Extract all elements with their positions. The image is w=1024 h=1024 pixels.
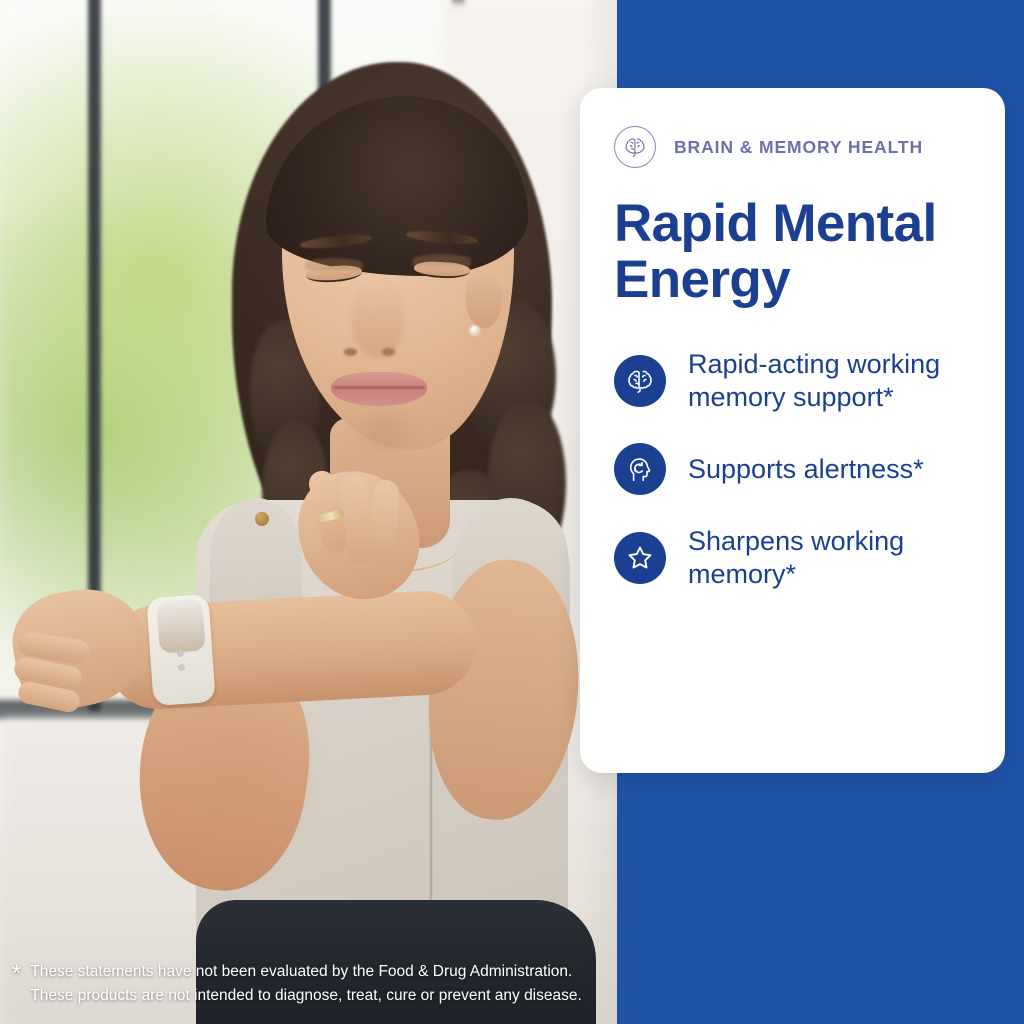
finger — [371, 480, 400, 567]
brain-outline-icon — [614, 126, 656, 168]
brain-icon — [614, 355, 666, 407]
benefits-list: Rapid-acting working memory support* Sup… — [614, 348, 971, 590]
disclaimer-line-2: These products are not intended to diagn… — [30, 987, 581, 1004]
disclaimer-text: These statements have not been evaluated… — [30, 960, 581, 1008]
elbow-shadow — [150, 700, 330, 850]
benefit-item-alertness: Supports alertness* — [614, 443, 971, 495]
benefit-label: Supports alertness* — [688, 453, 924, 485]
woman-figure — [0, 0, 620, 1024]
benefit-item-working-memory: Rapid-acting working memory support* — [614, 348, 971, 413]
benefit-label: Rapid-acting working memory support* — [688, 348, 971, 413]
earring — [470, 326, 479, 335]
nostril — [382, 348, 395, 356]
benefit-item-sharpens-memory: Sharpens working memory* — [614, 525, 971, 590]
lifestyle-photo — [0, 0, 620, 1024]
lips — [331, 372, 427, 406]
page-title: Rapid Mental Energy — [614, 196, 971, 308]
chin-shadow — [336, 412, 430, 452]
lifestyle-promo-image: BRAIN & MEMORY HEALTH Rapid Mental Energ… — [0, 0, 1024, 1024]
eyelid-left — [305, 258, 363, 270]
eyelid-right — [413, 254, 471, 266]
category-label: BRAIN & MEMORY HEALTH — [674, 137, 923, 158]
nostril — [344, 348, 357, 356]
benefit-label: Sharpens working memory* — [688, 525, 971, 590]
disclaimer-asterisk: * — [12, 962, 21, 986]
category-eyebrow: BRAIN & MEMORY HEALTH — [614, 126, 971, 168]
product-benefits-card: BRAIN & MEMORY HEALTH Rapid Mental Energ… — [580, 88, 1005, 773]
nose — [352, 280, 404, 358]
fitness-watch-face — [156, 598, 206, 653]
ear — [466, 268, 502, 328]
star-icon — [614, 532, 666, 584]
disclaimer-line-1: These statements have not been evaluated… — [30, 963, 572, 980]
head-alertness-icon — [614, 443, 666, 495]
shirt-button — [255, 512, 269, 526]
fda-disclaimer: * These statements have not been evaluat… — [12, 960, 582, 1008]
lip-line — [333, 386, 425, 389]
